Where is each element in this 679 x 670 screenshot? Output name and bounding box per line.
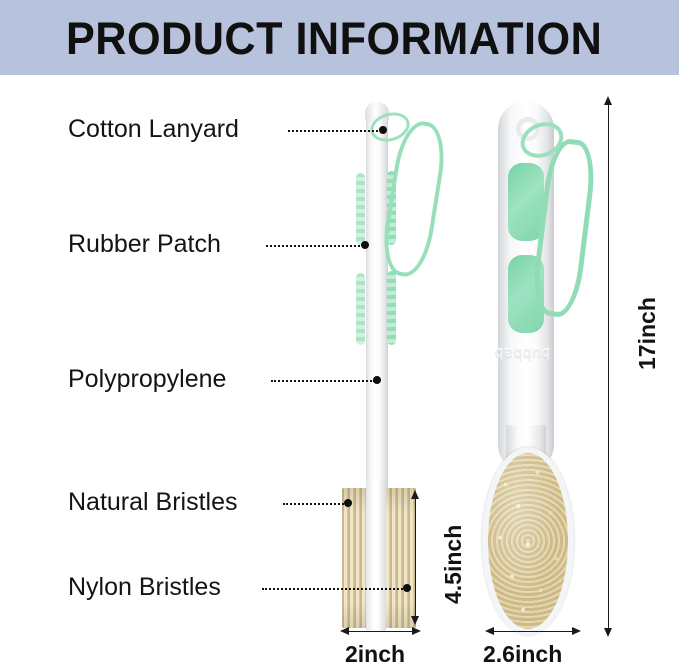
leader-line-natural-bristles [283,503,347,505]
brand-emboss-text: bubbab [502,345,550,362]
arrow-right-oval-head-width [572,627,581,635]
lanyard-loop [378,118,450,280]
product-front-view: bubbab [470,95,610,640]
dimension-line-flat-head-width [345,631,415,632]
page-title: PRODUCT INFORMATION [66,15,602,63]
dimension-label-oval-head-width: 2.6inch [483,641,562,668]
lanyard-loop [529,137,598,320]
leader-dot-nylon-bristles [403,584,411,592]
dimension-line-total-length [608,100,609,632]
arrow-up-brush-head-length [411,490,419,499]
arrow-down-total-length [604,628,612,637]
arrow-left-flat-head-width [340,627,349,635]
leader-dot-natural-bristles [344,499,352,507]
cotton-lanyard-side [376,113,434,273]
dimension-label-total-length: 17inch [634,297,661,370]
dimension-label-brush-head-length: 4.5inch [440,525,467,604]
leader-dot-polypropylene [373,376,381,384]
bristles-sheen [488,453,568,629]
callout-label-rubber-patch: Rubber Patch [68,231,221,257]
leader-dot-cotton-lanyard [379,126,387,134]
dimension-line-brush-head-length [415,495,416,620]
header-band: PRODUCT INFORMATION [0,0,679,75]
leader-line-nylon-bristles [262,588,406,590]
callout-label-natural-bristles: Natural Bristles [68,489,238,515]
product-information-infographic: PRODUCT INFORMATION bubbab [0,0,679,670]
leader-dot-rubber-patch [361,241,369,249]
callout-label-cotton-lanyard: Cotton Lanyard [68,116,239,142]
arrow-up-total-length [604,96,612,105]
leader-line-polypropylene [271,380,375,382]
cotton-lanyard-front [526,121,586,321]
leader-line-cotton-lanyard [288,130,382,132]
handle-over-head [366,480,386,632]
leader-line-rubber-patch [266,245,364,247]
callout-label-nylon-bristles: Nylon Bristles [68,574,221,600]
arrow-left-oval-head-width [485,627,494,635]
arrow-right-flat-head-width [412,627,421,635]
rubber-patch-right-lower [387,271,396,345]
rubber-patch-left-upper [356,173,365,245]
brush-head-oval [482,447,574,635]
arrow-down-brush-head-length [411,616,419,625]
rubber-patch-left-lower [356,273,365,345]
dimension-line-oval-head-width [490,631,575,632]
dimension-label-flat-head-width: 2inch [345,641,405,668]
callout-label-polypropylene: Polypropylene [68,366,226,392]
